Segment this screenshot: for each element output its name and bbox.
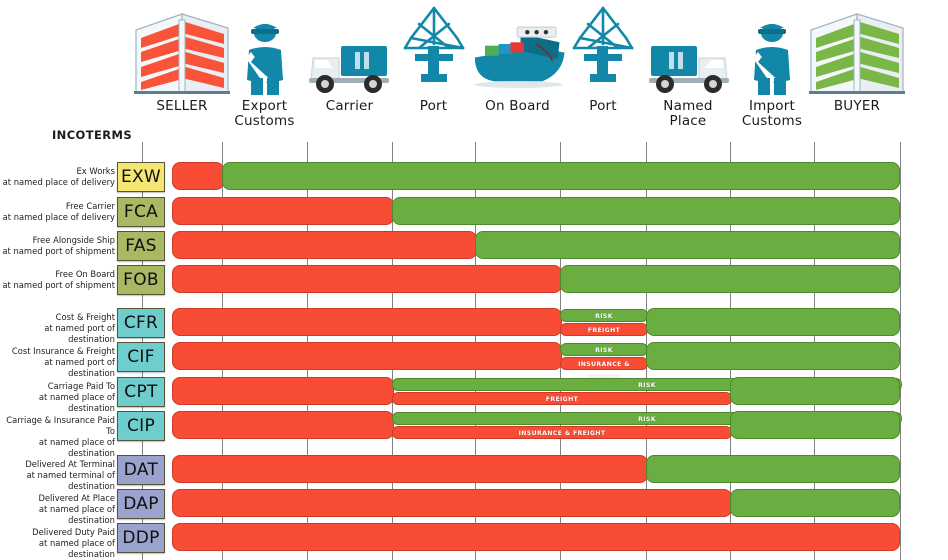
incoterm-code-fob[interactable]: FOB (117, 265, 165, 295)
incoterm-code-cfr[interactable]: CFR (117, 308, 165, 338)
bar-dap-buyer (730, 489, 900, 517)
green-building-icon (802, 4, 912, 96)
bar-dap-seller (172, 489, 732, 517)
incoterm-code-cif[interactable]: CIF (117, 342, 165, 372)
bar-tag: RISK (561, 310, 647, 323)
bar-fob-seller (172, 265, 562, 293)
row-name: Cost Insurance & Freight (0, 346, 115, 357)
row-name: Free Carrier (0, 201, 115, 212)
bar-cfr-buyer-risk: RISK (560, 309, 648, 322)
bar-cpt-seller-freight: FREIGHT (392, 392, 732, 405)
gridline (900, 142, 901, 560)
bar-tag: FREIGHT (393, 393, 731, 406)
column-header-buyer: BUYER (802, 4, 912, 114)
bar-fas-buyer (475, 231, 900, 259)
row-name: Delivered At Place (0, 493, 115, 504)
incoterm-code-fca[interactable]: FCA (117, 197, 165, 227)
incoterm-code-fas[interactable]: FAS (117, 231, 165, 261)
bar-exw-buyer (222, 162, 900, 190)
row-subtitle: at named place of delivery (0, 177, 115, 188)
bar-ddp-seller (172, 523, 900, 551)
row-label-fca: Free Carrierat named place of delivery (0, 201, 115, 223)
bar-cif-seller-insurance-freight: INSURANCE & FREIGHT (560, 357, 648, 370)
row-label-cif: Cost Insurance & Freightat named port of… (0, 346, 115, 379)
row-label-dap: Delivered At Placeat named place of dest… (0, 493, 115, 526)
incoterm-code-ddp[interactable]: DDP (117, 523, 165, 553)
row-name: Ex Works (0, 166, 115, 177)
row-subtitle: at named port of shipment (0, 280, 115, 291)
row-subtitle: at named place of destination (0, 437, 115, 459)
bar-cif-seller (172, 342, 562, 370)
row-subtitle: at named terminal of destination (0, 470, 115, 492)
bar-cif-buyer-risk: RISK (560, 343, 648, 356)
row-subtitle: at named port of destination (0, 357, 115, 379)
bar-fas-seller (172, 231, 477, 259)
row-label-cip: Carriage & Insurance Paid Toat named pla… (0, 415, 115, 459)
row-name: Free On Board (0, 269, 115, 280)
bar-cip-seller-insurance-freight: INSURANCE & FREIGHT (392, 426, 732, 439)
row-name: Carriage & Insurance Paid To (0, 415, 115, 437)
row-label-dat: Delivered At Terminalat named terminal o… (0, 459, 115, 492)
bar-fca-buyer (392, 197, 900, 225)
row-subtitle: at named port of destination (0, 323, 115, 345)
row-name: Cost & Freight (0, 312, 115, 323)
bar-cfr-seller-freight: FREIGHT (560, 323, 648, 336)
bar-exw-seller (172, 162, 224, 190)
row-subtitle: at named place of delivery (0, 212, 115, 223)
bar-dat-seller (172, 455, 648, 483)
row-name: Carriage Paid To (0, 381, 115, 392)
column-label-buyer: BUYER (802, 96, 912, 114)
row-name: Delivered At Terminal (0, 459, 115, 470)
row-label-ddp: Delivered Duty Paidat named place of des… (0, 527, 115, 560)
bar-cif-buyer (646, 342, 900, 370)
bar-cpt-buyer (730, 377, 900, 405)
row-name: Delivered Duty Paid (0, 527, 115, 538)
row-label-cfr: Cost & Freightat named port of destinati… (0, 312, 115, 345)
bar-cip-seller (172, 411, 394, 439)
incoterm-code-dat[interactable]: DAT (117, 455, 165, 485)
incoterm-code-dap[interactable]: DAP (117, 489, 165, 519)
incoterm-code-exw[interactable]: EXW (117, 162, 165, 192)
bar-tag: INSURANCE & FREIGHT (393, 427, 731, 440)
incoterms-chart: INCOTERMS SELLER (0, 0, 948, 560)
bar-tag: FREIGHT (561, 324, 647, 337)
bar-cpt-seller (172, 377, 394, 405)
row-name: Free Alongside Ship (0, 235, 115, 246)
row-subtitle: at named place of destination (0, 504, 115, 526)
bar-cfr-buyer (646, 308, 900, 336)
row-subtitle: at named place of destination (0, 392, 115, 414)
incoterm-code-cpt[interactable]: CPT (117, 377, 165, 407)
row-subtitle: at named place of destination (0, 538, 115, 560)
bar-dat-buyer (646, 455, 900, 483)
incoterm-code-cip[interactable]: CIP (117, 411, 165, 441)
row-label-fob: Free On Boardat named port of shipment (0, 269, 115, 291)
bar-cip-buyer (730, 411, 900, 439)
bar-fca-seller (172, 197, 394, 225)
bar-tag: RISK (561, 344, 647, 357)
page-title: INCOTERMS (52, 128, 132, 142)
row-label-fas: Free Alongside Shipat named port of ship… (0, 235, 115, 257)
row-subtitle: at named port of shipment (0, 246, 115, 257)
row-label-exw: Ex Worksat named place of delivery (0, 166, 115, 188)
row-label-cpt: Carriage Paid Toat named place of destin… (0, 381, 115, 414)
bar-cfr-seller (172, 308, 562, 336)
bar-fob-buyer (560, 265, 900, 293)
